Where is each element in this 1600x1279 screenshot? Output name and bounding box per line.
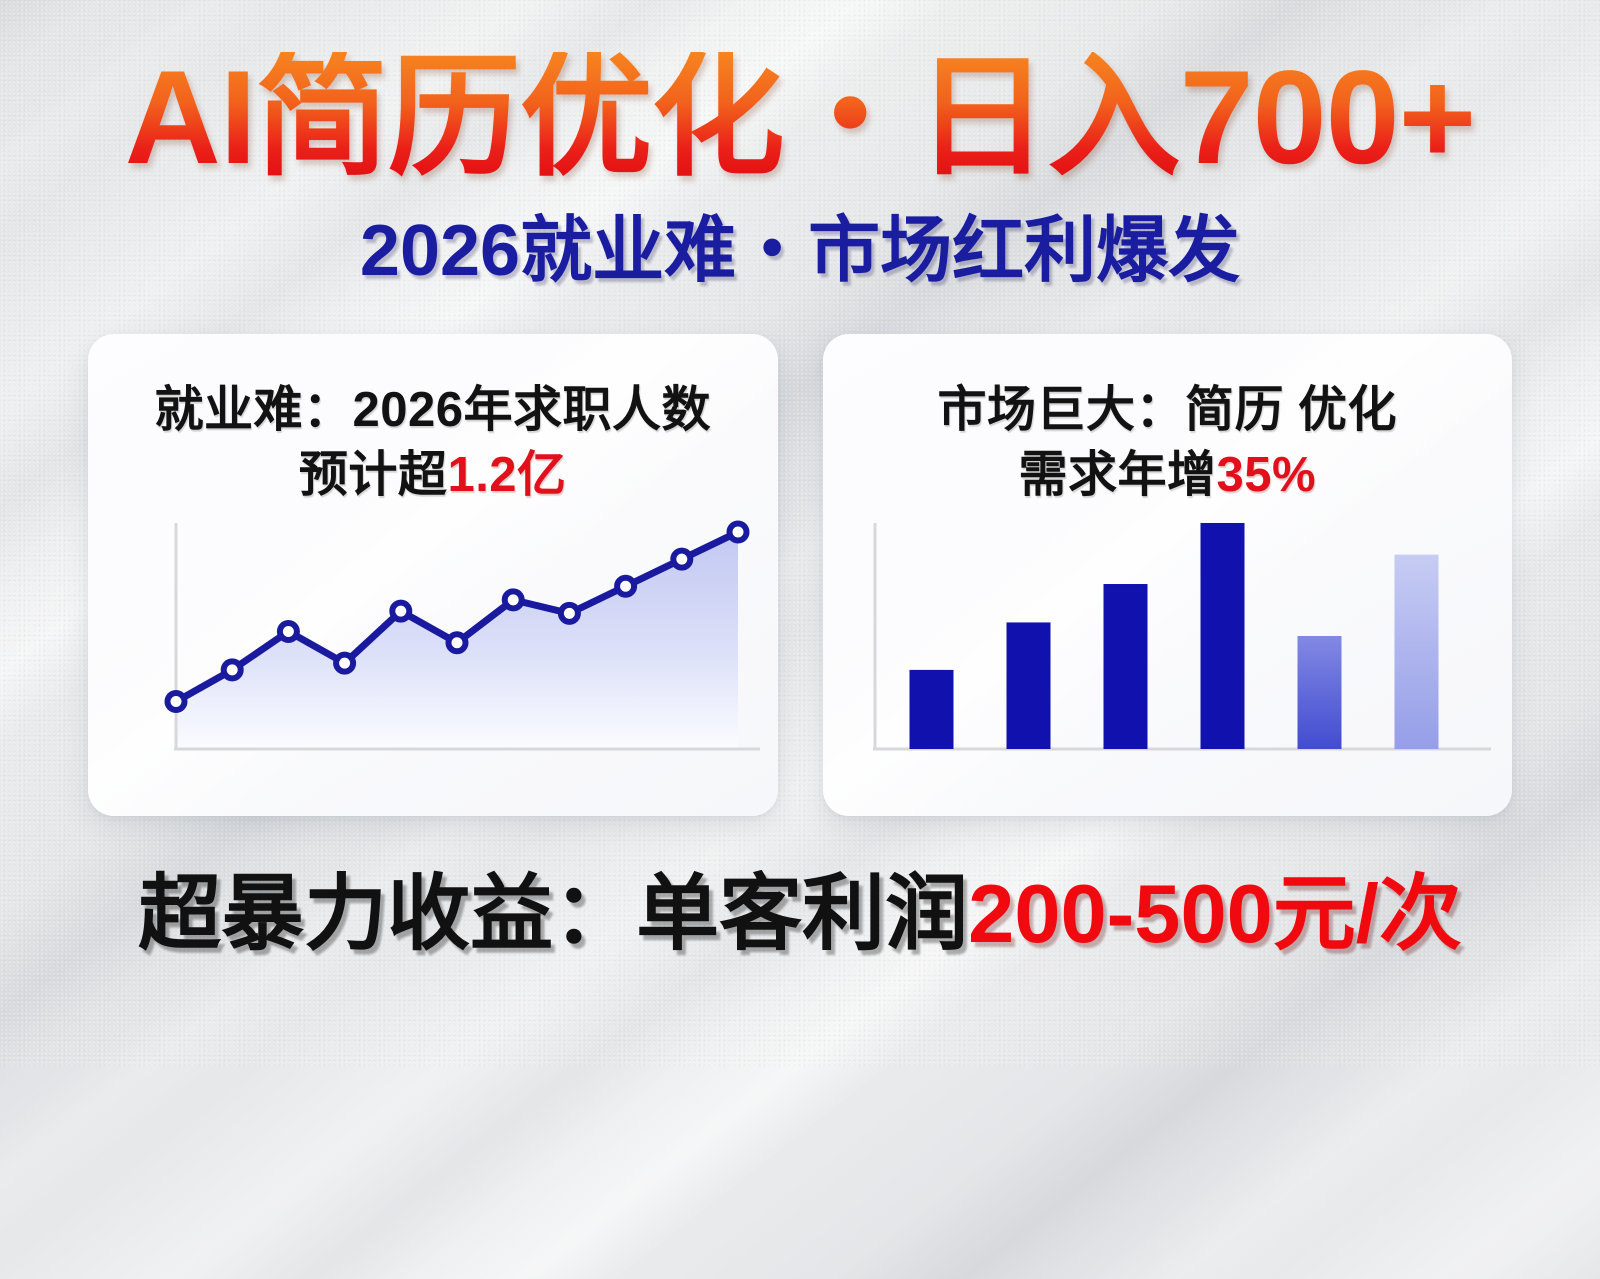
line-chart-data-point [280,623,297,640]
bar-chart-bar [1297,636,1341,749]
headline-text: AI简历优化・日入700+ [125,52,1476,185]
bottom-banner: 超暴力收益：单客利润200-500元/次 [0,872,1600,955]
bar-chart-bar [1103,584,1147,749]
card-employment-difficulty: 就业难：2026年求职人数 预计超1.2亿 [88,334,778,816]
line-chart-data-point [168,693,185,710]
line-chart-data-point [617,578,634,595]
line-chart-data-point [561,605,578,622]
card-title-market: 市场巨大：简历 优化 需求年增35% [937,378,1397,507]
card-market-size: 市场巨大：简历 优化 需求年增35% [823,334,1513,816]
card-title-line1: 市场巨大：简历 优化 [937,383,1397,437]
line-chart-data-point [336,655,353,672]
poster-subheadline: 2026就业难・市场红利爆发 [0,215,1600,287]
line-chart-data-point [730,524,747,541]
card-title-highlight: 35% [1216,448,1316,502]
stat-cards-row: 就业难：2026年求职人数 预计超1.2亿 [88,334,1512,816]
line-chart-data-point [392,603,409,620]
bar-chart-bar [1006,623,1050,750]
bar-chart-bar [1394,555,1438,749]
line-chart-data-point [224,662,241,679]
resume-demand-bar-chart [823,507,1513,797]
poster-stage: AI简历优化・日入700+ 2026就业难・市场红利爆发 就业难：2026年求职… [0,0,1600,1066]
card-title-line2-plain: 需求年增 [1018,448,1216,502]
bar-chart-container [823,507,1513,816]
card-title-highlight: 1.2亿 [447,448,566,502]
line-chart-data-point [673,551,690,568]
card-title-line1: 就业难：2026年求职人数 [154,383,711,437]
line-chart-data-point [505,592,522,609]
card-title-line2-plain: 预计超 [299,448,448,502]
bar-chart-bar [1200,523,1244,749]
line-chart-data-point [449,635,466,652]
line-chart-container [88,507,778,816]
banner-red-text: 200-500元/次 [968,867,1462,960]
card-title-employment: 就业难：2026年求职人数 预计超1.2亿 [154,378,711,507]
bar-chart-bar [909,670,953,749]
poster-headline: AI简历优化・日入700+ [0,52,1600,185]
jobseeker-trend-line-chart [88,507,778,797]
banner-black-text: 超暴力收益：单客利润 [138,867,968,960]
